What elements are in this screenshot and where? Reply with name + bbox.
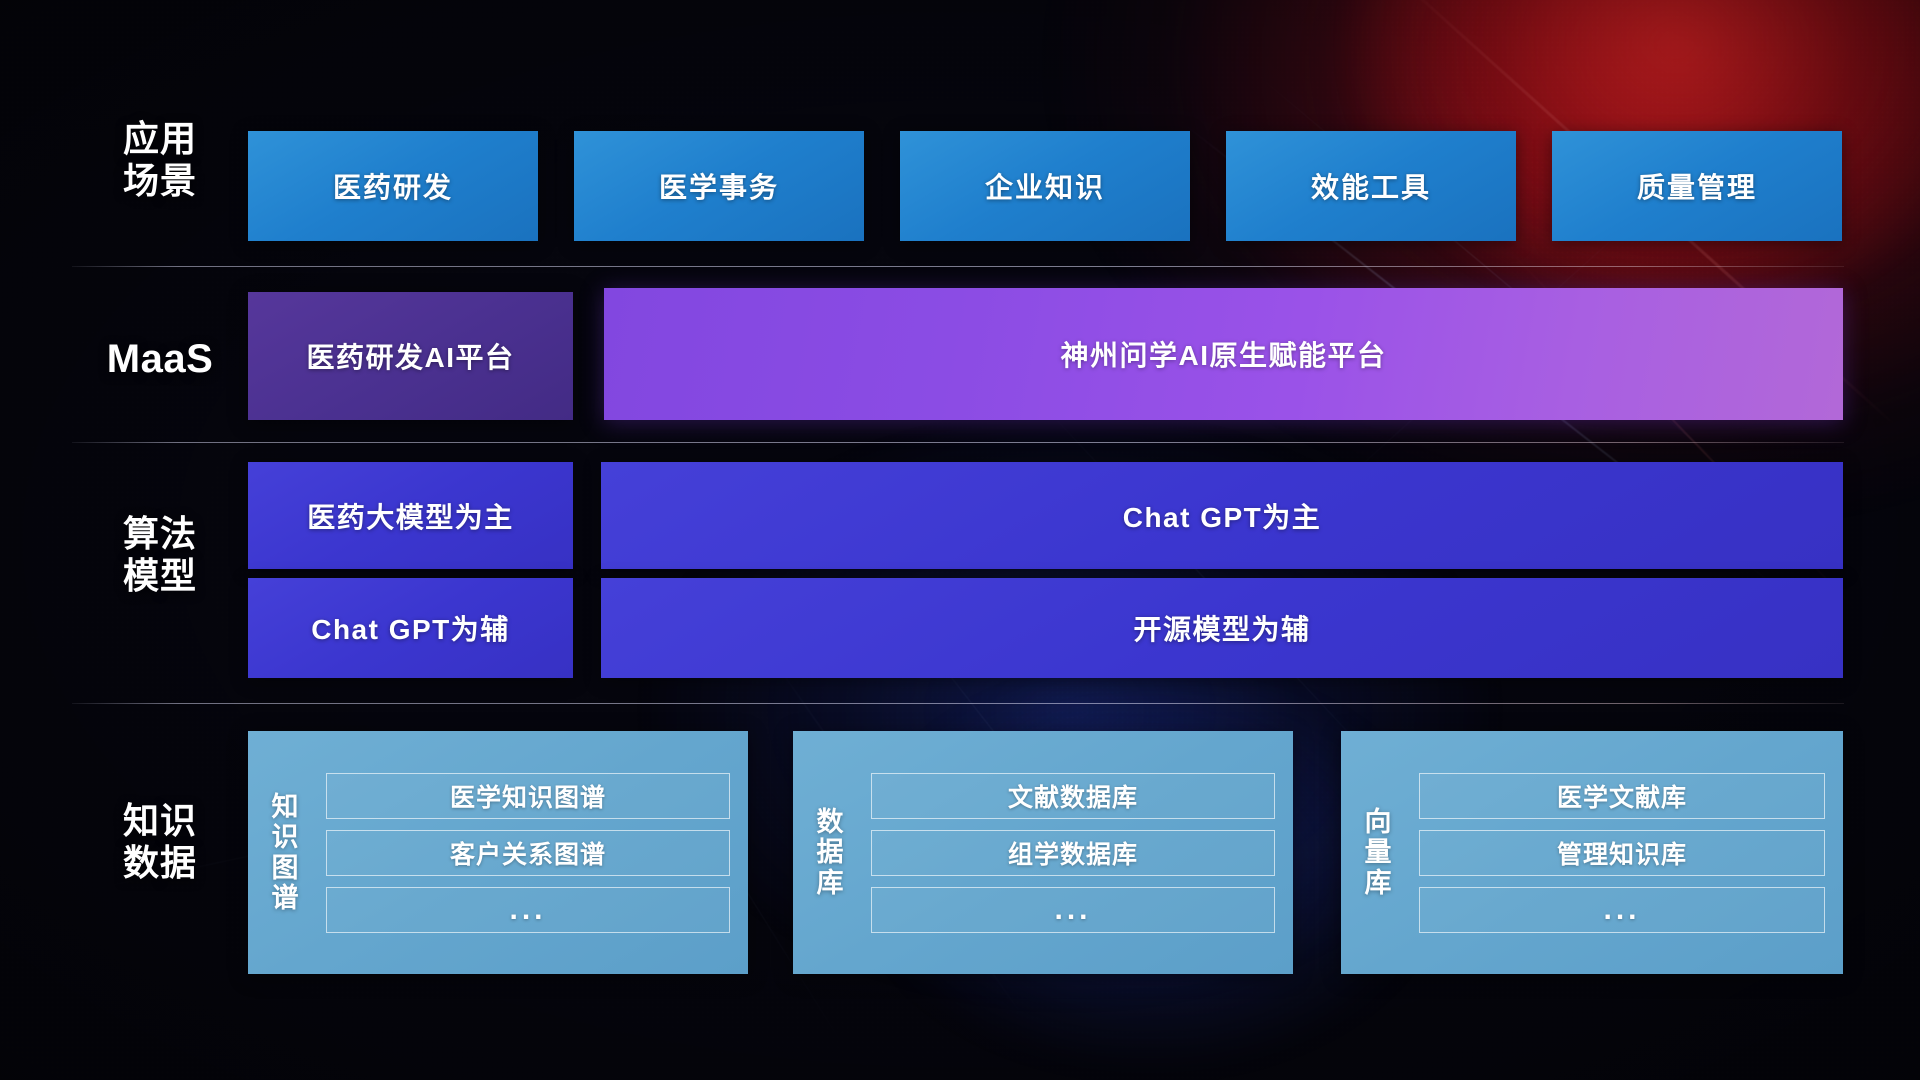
knowledge-items-knowledge-graph: 医学知识图谱 客户关系图谱 ...: [322, 731, 748, 974]
knowledge-item-more[interactable]: ...: [326, 887, 730, 933]
tier-label-line: 应用: [75, 118, 245, 160]
knowledge-items-vector-store: 医学文献库 管理知识库 ...: [1415, 731, 1843, 974]
tier-label-line: 模型: [75, 555, 245, 597]
tier-label-line: 算法: [75, 513, 245, 555]
divider-after-application: [72, 266, 1844, 267]
algorithm-box-chatgpt-primary[interactable]: Chat GPT为主: [601, 462, 1843, 569]
app-box-quality-management[interactable]: 质量管理: [1552, 131, 1842, 241]
knowledge-group-database[interactable]: 数 据 库 文献数据库 组学数据库 ...: [793, 731, 1293, 974]
app-box-efficiency-tools[interactable]: 效能工具: [1226, 131, 1516, 241]
tier-label-line: MaaS: [75, 336, 245, 382]
knowledge-group-vector-store[interactable]: 向 量 库 医学文献库 管理知识库 ...: [1341, 731, 1843, 974]
maas-box-drug-rd-ai-platform[interactable]: 医药研发AI平台: [248, 292, 573, 420]
knowledge-group-label-database: 数 据 库: [793, 731, 867, 974]
vertical-label-char: 向: [1365, 807, 1392, 837]
algorithm-box-open-source-secondary[interactable]: 开源模型为辅: [601, 578, 1843, 678]
vertical-label-char: 库: [1365, 868, 1392, 898]
tier-label-algorithm-model: 算法 模型: [75, 513, 245, 597]
divider-after-algorithm: [72, 703, 1844, 704]
vertical-label-char: 图: [272, 853, 299, 883]
app-box-enterprise-knowledge[interactable]: 企业知识: [900, 131, 1190, 241]
knowledge-item[interactable]: 客户关系图谱: [326, 830, 730, 876]
tier-label-application-scenarios: 应用 场景: [75, 118, 245, 202]
algorithm-box-chatgpt-secondary[interactable]: Chat GPT为辅: [248, 578, 573, 678]
tier-label-line: 数据: [75, 842, 245, 884]
vertical-label-char: 数: [817, 807, 844, 837]
knowledge-item[interactable]: 文献数据库: [871, 773, 1275, 819]
vertical-label-char: 库: [817, 868, 844, 898]
algorithm-box-pharma-large-model-primary[interactable]: 医药大模型为主: [248, 462, 573, 569]
tier-label-line: 场景: [75, 160, 245, 202]
divider-after-maas: [72, 442, 1844, 443]
tier-label-maas: MaaS: [75, 336, 245, 382]
knowledge-group-label-knowledge-graph: 知 识 图 谱: [248, 731, 322, 974]
knowledge-group-label-vector-store: 向 量 库: [1341, 731, 1415, 974]
knowledge-item[interactable]: 管理知识库: [1419, 830, 1825, 876]
maas-box-shenzhou-wenxue-platform[interactable]: 神州问学AI原生赋能平台: [604, 288, 1843, 420]
tier-label-knowledge-data: 知识 数据: [75, 800, 245, 884]
knowledge-item-more[interactable]: ...: [1419, 887, 1825, 933]
vertical-label-char: 知: [272, 792, 299, 822]
vertical-label-char: 识: [272, 822, 299, 852]
tier-label-line: 知识: [75, 800, 245, 842]
vertical-label-char: 据: [817, 837, 844, 867]
app-box-drug-rd[interactable]: 医药研发: [248, 131, 538, 241]
knowledge-item[interactable]: 组学数据库: [871, 830, 1275, 876]
knowledge-item[interactable]: 医学文献库: [1419, 773, 1825, 819]
knowledge-items-database: 文献数据库 组学数据库 ...: [867, 731, 1293, 974]
architecture-diagram: 应用 场景 医药研发 医学事务 企业知识 效能工具 质量管理 MaaS 医药研发…: [0, 0, 1920, 1080]
knowledge-item-more[interactable]: ...: [871, 887, 1275, 933]
knowledge-item[interactable]: 医学知识图谱: [326, 773, 730, 819]
app-box-medical-affairs[interactable]: 医学事务: [574, 131, 864, 241]
vertical-label-char: 谱: [272, 883, 299, 913]
vertical-label-char: 量: [1365, 837, 1392, 867]
knowledge-group-knowledge-graph[interactable]: 知 识 图 谱 医学知识图谱 客户关系图谱 ...: [248, 731, 748, 974]
